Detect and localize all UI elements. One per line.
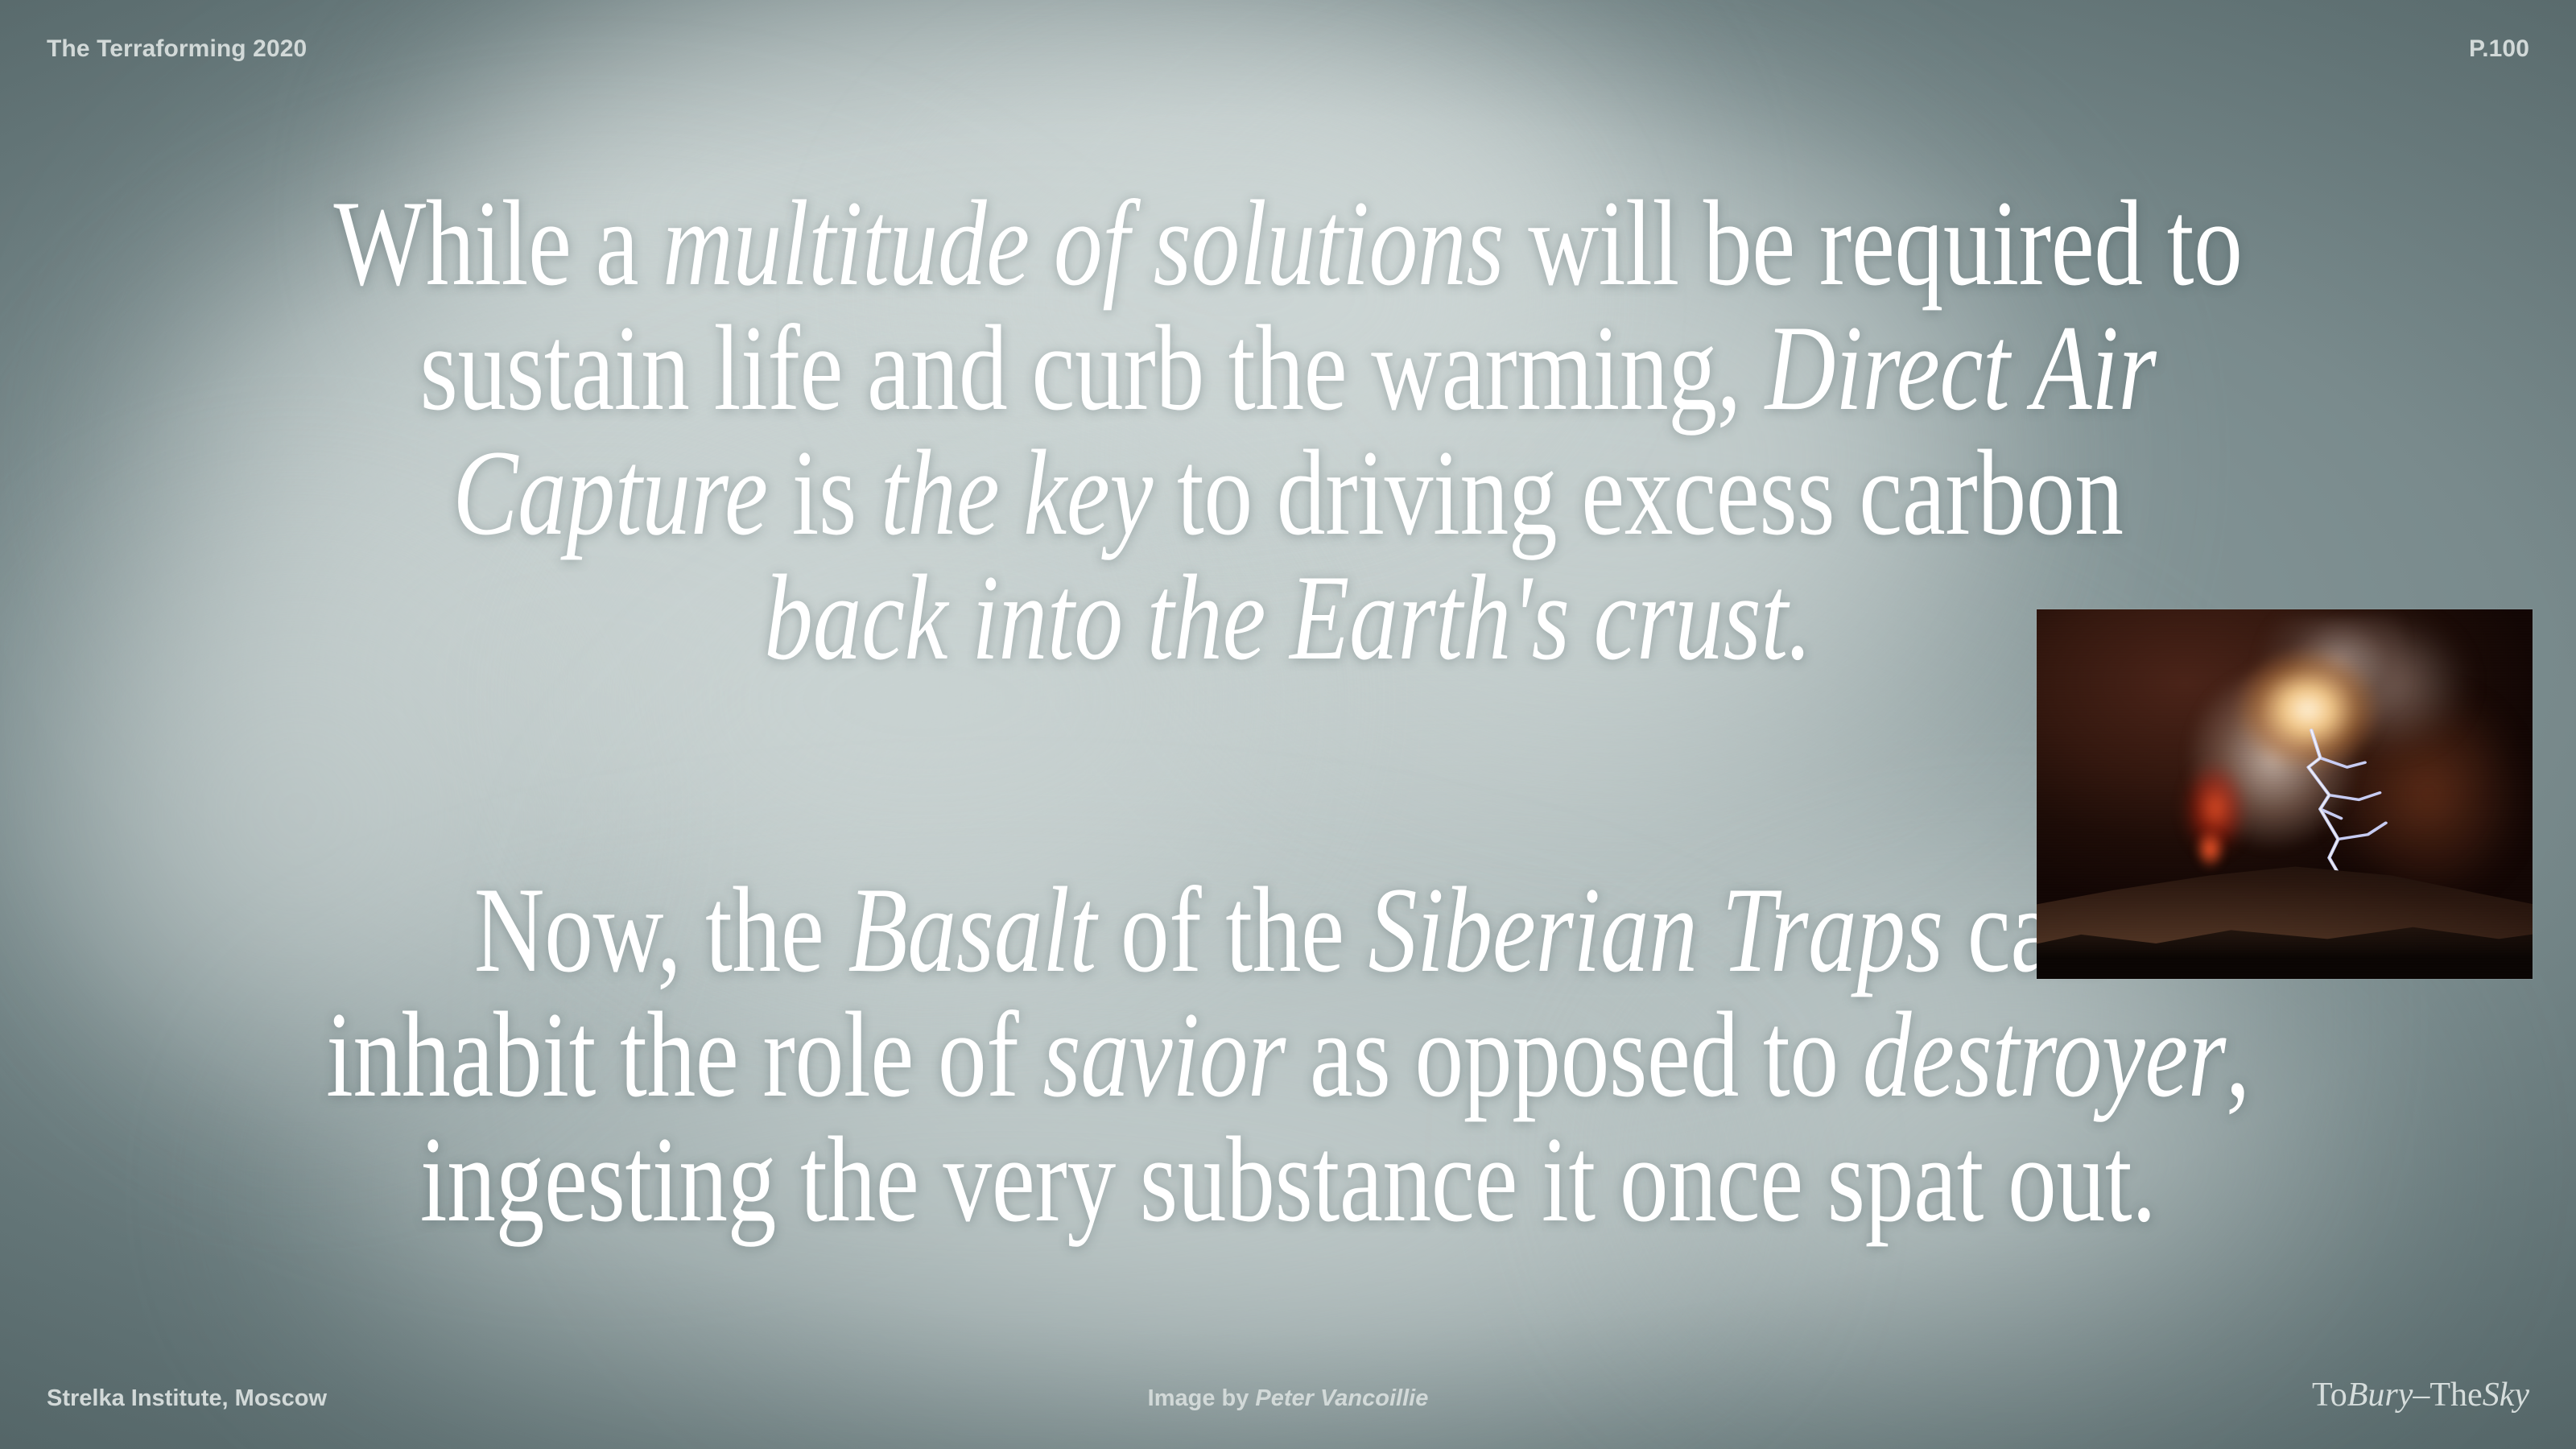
text-run: will be required to: [1504, 175, 2242, 311]
image-credit-prefix: Image by: [1148, 1385, 1256, 1411]
deck-title: The Terraforming 2020: [47, 35, 307, 63]
paragraph-one: While a multitude of solutions will be r…: [258, 181, 2318, 680]
image-credit-author: Peter Vancoillie: [1255, 1385, 1428, 1411]
text-line: inhabit the role of savior as opposed to…: [258, 993, 2318, 1117]
page-number: P.100: [2469, 35, 2529, 63]
emphasis-run: the key: [881, 425, 1153, 560]
paragraph-two: Now, the Basalt of the Siberian Traps ca…: [258, 868, 2318, 1242]
logo-part-the: The: [2429, 1377, 2482, 1414]
text-line: While a multitude of solutions will be r…: [258, 181, 2318, 306]
emphasis-run: Basalt: [848, 862, 1096, 997]
logo-part-bury: Bury: [2347, 1377, 2413, 1414]
emphasis-run: savior: [1042, 987, 1286, 1122]
image-credit: Image by Peter Vancoillie: [1148, 1385, 1429, 1412]
text-line: back into the Earth's crust.: [258, 555, 2318, 680]
project-logo: ToBury–TheSky: [2312, 1378, 2529, 1412]
text-run: ingesting the very substance it once spa…: [420, 1112, 2156, 1247]
emphasis-run: Capture: [452, 425, 767, 560]
logo-dash: –: [2413, 1377, 2429, 1414]
text-run: as opposed to: [1286, 987, 1863, 1122]
text-run: sustain life and curb the warming,: [420, 300, 1765, 436]
text-run: inhabit the role of: [326, 987, 1042, 1122]
institution-label: Strelka Institute, Moscow: [47, 1385, 327, 1412]
slide-root: The Terraforming 2020 P.100 While a mult…: [0, 0, 2576, 1449]
emphasis-run: destroyer: [1863, 987, 2226, 1122]
slide-header: The Terraforming 2020 P.100: [0, 35, 2576, 63]
text-line: Now, the Basalt of the Siberian Traps ca…: [258, 868, 2318, 993]
photo-grain: [2037, 609, 2533, 979]
emphasis-run: Direct Air: [1765, 300, 2157, 436]
text-run: Now, the: [474, 862, 848, 997]
text-line: sustain life and curb the warming, Direc…: [258, 306, 2318, 431]
text-run: ,: [2226, 987, 2250, 1122]
text-run: to driving excess carbon: [1153, 425, 2124, 560]
text-run: of the: [1096, 862, 1368, 997]
slide-footer: Strelka Institute, Moscow Image by Peter…: [0, 1378, 2576, 1412]
logo-part-sky: Sky: [2483, 1377, 2529, 1414]
volcano-eruption-image: [2037, 609, 2533, 979]
text-line: Capture is the key to driving excess car…: [258, 431, 2318, 555]
text-run: While a: [333, 175, 663, 311]
emphasis-run: multitude of solutions: [663, 175, 1504, 311]
text-run: is: [768, 425, 881, 560]
text-line: ingesting the very substance it once spa…: [258, 1117, 2318, 1242]
logo-part-to: To: [2312, 1377, 2347, 1414]
emphasis-run: back into the Earth's crust.: [764, 550, 1812, 685]
emphasis-run: Siberian Traps: [1368, 862, 1943, 997]
